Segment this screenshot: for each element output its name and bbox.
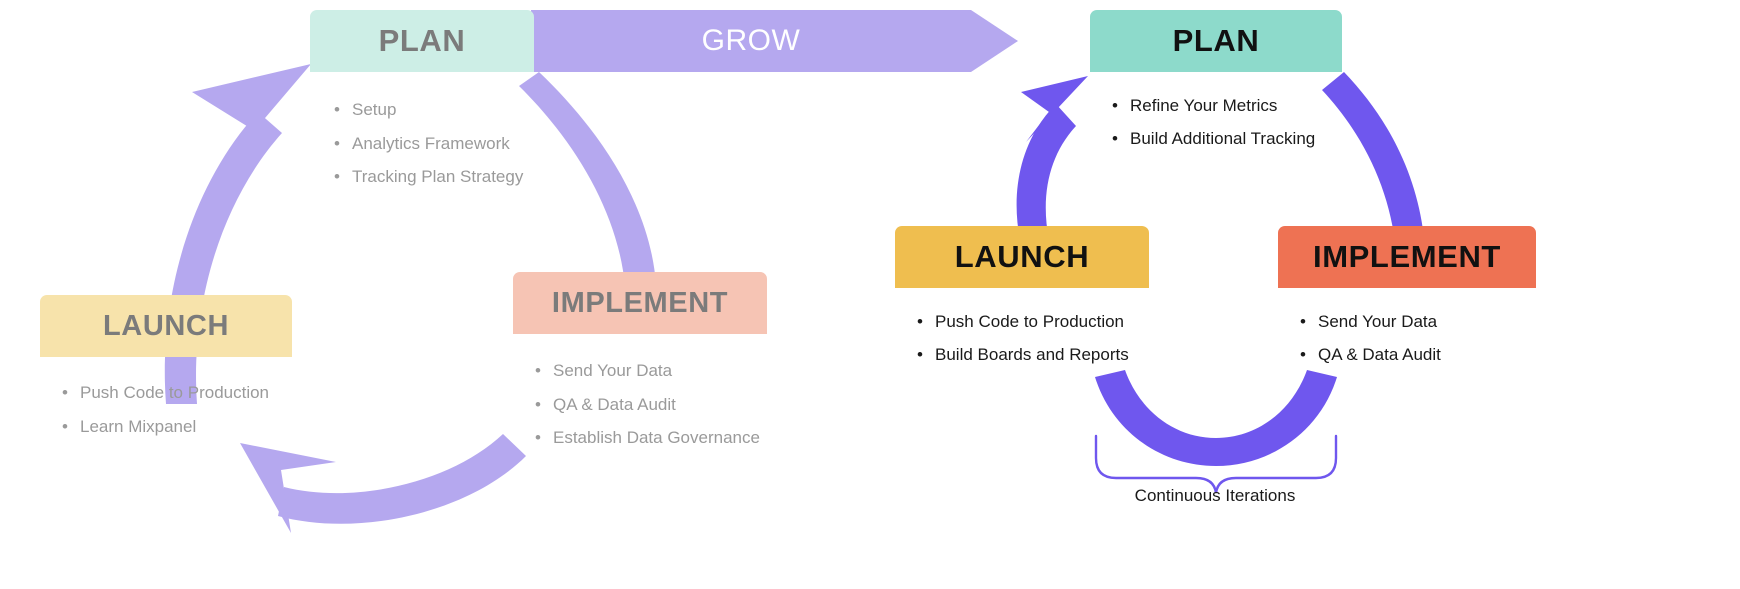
bullet-icon: • (535, 354, 553, 388)
node-plan-left[interactable]: PLAN • Setup • Analytics Framework • Tra… (310, 10, 534, 194)
continuous-iterations-label: Continuous Iterations (1075, 486, 1355, 506)
node-plan-left-title: PLAN (310, 10, 534, 72)
node-launch-left-title: LAUNCH (40, 295, 292, 357)
list-item-label: Establish Data Governance (553, 421, 760, 455)
list-item-label: Push Code to Production (80, 376, 269, 410)
bullet-icon: • (535, 388, 553, 422)
list-item-label: Analytics Framework (352, 127, 510, 161)
node-implement-right-items: • Send Your Data • QA & Data Audit (1300, 305, 1536, 371)
list-item: • Tracking Plan Strategy (334, 160, 534, 194)
node-plan-left-items: • Setup • Analytics Framework • Tracking… (334, 93, 534, 194)
arrowhead-implement-to-launch-left (240, 443, 336, 533)
arrowhead-launch-to-plan-right (1021, 76, 1088, 142)
list-item-label: Tracking Plan Strategy (352, 160, 523, 194)
node-implement-left[interactable]: IMPLEMENT • Send Your Data • QA & Data A… (513, 272, 767, 455)
node-plan-right[interactable]: PLAN • Refine Your Metrics • Build Addit… (1090, 10, 1342, 155)
list-item-label: Refine Your Metrics (1130, 89, 1277, 122)
list-item: • Send Your Data (1300, 305, 1536, 338)
list-item: • Learn Mixpanel (62, 410, 292, 444)
list-item: • Build Additional Tracking (1112, 122, 1342, 155)
list-item: • Build Boards and Reports (917, 338, 1149, 371)
node-implement-right[interactable]: IMPLEMENT • Send Your Data • QA & Data A… (1278, 226, 1536, 371)
list-item: • Analytics Framework (334, 127, 534, 161)
arrow-implement-to-launch-right (1095, 370, 1337, 466)
node-implement-right-title: IMPLEMENT (1278, 226, 1536, 288)
list-item-label: Setup (352, 93, 396, 127)
arrow-launch-to-plan-right (1017, 104, 1076, 240)
node-launch-right[interactable]: LAUNCH • Push Code to Production • Build… (895, 226, 1149, 371)
list-item: • Push Code to Production (62, 376, 292, 410)
list-item-label: Send Your Data (553, 354, 672, 388)
node-launch-right-items: • Push Code to Production • Build Boards… (917, 305, 1149, 371)
continuous-iterations-brace (1096, 436, 1336, 493)
list-item-label: QA & Data Audit (553, 388, 676, 422)
bullet-icon: • (334, 160, 352, 194)
list-item-label: Send Your Data (1318, 305, 1437, 338)
bullet-icon: • (1300, 338, 1318, 371)
list-item: • Setup (334, 93, 534, 127)
list-item-label: Push Code to Production (935, 305, 1124, 338)
arrow-plan-to-implement-left (519, 72, 656, 286)
bullet-icon: • (535, 421, 553, 455)
grow-banner-label: GROW (531, 10, 971, 72)
list-item: • Establish Data Governance (535, 421, 767, 455)
arrow-implement-to-launch-left (278, 434, 526, 524)
node-launch-left[interactable]: LAUNCH • Push Code to Production • Learn… (40, 295, 292, 443)
list-item: • QA & Data Audit (535, 388, 767, 422)
list-item: • QA & Data Audit (1300, 338, 1536, 371)
node-launch-left-items: • Push Code to Production • Learn Mixpan… (62, 376, 292, 443)
list-item-label: Build Boards and Reports (935, 338, 1129, 371)
bullet-icon: • (917, 338, 935, 371)
arrowhead-launch-to-plan-left (192, 64, 311, 178)
bullet-icon: • (1112, 122, 1130, 155)
node-implement-left-items: • Send Your Data • QA & Data Audit • Est… (535, 354, 767, 455)
list-item-label: Learn Mixpanel (80, 410, 196, 444)
node-launch-right-title: LAUNCH (895, 226, 1149, 288)
bullet-icon: • (334, 127, 352, 161)
grow-banner: GROW (531, 10, 1018, 72)
bullet-icon: • (62, 376, 80, 410)
list-item-label: QA & Data Audit (1318, 338, 1441, 371)
bullet-icon: • (1300, 305, 1318, 338)
node-plan-right-items: • Refine Your Metrics • Build Additional… (1112, 89, 1342, 155)
list-item: • Refine Your Metrics (1112, 89, 1342, 122)
bullet-icon: • (917, 305, 935, 338)
bullet-icon: • (334, 93, 352, 127)
bullet-icon: • (1112, 89, 1130, 122)
node-implement-left-title: IMPLEMENT (513, 272, 767, 334)
diagram-canvas: GROW PLAN • Setup • Analytics Framework … (0, 0, 1740, 589)
list-item-label: Build Additional Tracking (1130, 122, 1315, 155)
node-plan-right-title: PLAN (1090, 10, 1342, 72)
list-item: • Send Your Data (535, 354, 767, 388)
bullet-icon: • (62, 410, 80, 444)
list-item: • Push Code to Production (917, 305, 1149, 338)
